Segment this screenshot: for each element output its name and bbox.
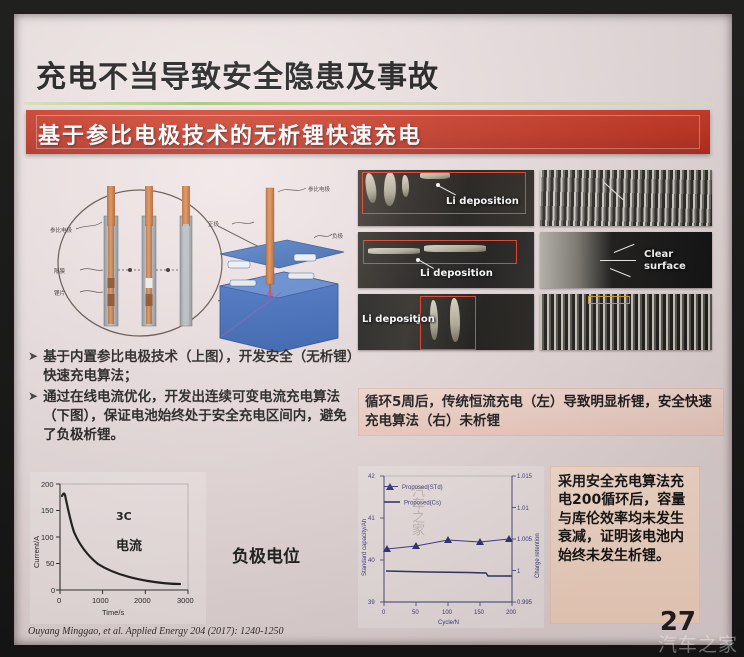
schematic-label-separator: 隔膜	[54, 267, 66, 275]
photo-caption-li-deposition-1: Li deposition	[446, 196, 519, 207]
bullet-item-1: ➤ 基于内置参比电极技术（上图），开发安全（无析锂）快速充电算法；	[28, 348, 354, 385]
svg-text:3000: 3000	[177, 596, 194, 605]
page-title: 充电不当导致安全隐患及事故	[36, 52, 596, 96]
schematic-label-ref-electrode-zoom: 参比电极	[50, 226, 73, 234]
svg-text:Time/s: Time/s	[102, 608, 124, 617]
bullet-text-1: 基于内置参比电极技术（上图），开发安全（无析锂）快速充电算法；	[43, 348, 354, 385]
svg-text:1.005: 1.005	[517, 537, 533, 543]
svg-text:1000: 1000	[92, 596, 109, 605]
chart-annotation-3c: 3C	[116, 510, 132, 523]
svg-text:Current/A: Current/A	[32, 536, 41, 568]
svg-text:42: 42	[368, 474, 375, 480]
svg-text:41: 41	[368, 516, 375, 522]
watermark: 汽车之家	[658, 630, 738, 657]
bullet-list: ➤ 基于内置参比电极技术（上图），开发安全（无析锂）快速充电算法； ➤ 通过在线…	[28, 348, 354, 447]
svg-text:100: 100	[442, 610, 453, 616]
citation-text: Ouyang Minggao, et al. Applied Energy 20…	[28, 626, 284, 637]
svg-text:Charge retention: Charge retention	[535, 533, 541, 578]
svg-text:0: 0	[51, 586, 55, 595]
photo-clear-surface-2: Clear surface	[540, 232, 712, 288]
photo-column-conventional: Li deposition Li deposition Li depositio…	[358, 170, 534, 350]
schematic-label-ref-electrode-cell: 参比电极	[308, 185, 331, 193]
svg-text:100: 100	[41, 533, 54, 542]
photo-li-deposition-3: Li deposition	[358, 294, 534, 350]
svg-text:Standard capacity/Ah: Standard capacity/Ah	[362, 519, 368, 576]
photo-caption-clear-surface-line1: Clear	[644, 250, 673, 261]
schematic-label-lithium: 锂片	[54, 289, 65, 297]
svg-text:1.015: 1.015	[517, 474, 533, 480]
svg-text:50: 50	[412, 610, 419, 616]
title-divider	[24, 102, 714, 105]
svg-text:50: 50	[46, 559, 54, 568]
bullet-text-2: 通过在线电流优化，开发出连续可变电流充电算法（下图），保证电池始终处于安全充电区…	[43, 388, 354, 444]
svg-text:39: 39	[368, 600, 375, 606]
screenshot-root: 充电不当导致安全隐患及事故 基于参比电极技术的无析锂快速充电	[0, 0, 744, 657]
photo-caption-clear-surface-line2: surface	[644, 262, 686, 273]
svg-text:2000: 2000	[134, 596, 151, 605]
photo-caption-li-deposition-2: Li deposition	[420, 268, 493, 279]
chart-capacity-retention: 42 41 40 39 Standard capacity/Ah 1.015 1…	[358, 466, 544, 628]
negative-potential-label: 负极电位	[232, 542, 300, 567]
svg-text:40: 40	[368, 558, 375, 564]
bullet-marker-icon: ➤	[28, 348, 38, 385]
svg-text:200: 200	[41, 480, 54, 489]
photo-li-deposition-1: Li deposition	[358, 170, 534, 226]
reference-electrode-schematic: 参比电极 隔膜 锂片	[32, 166, 352, 356]
bullet-item-2: ➤ 通过在线电流优化，开发出连续可变电流充电算法（下图），保证电池始终处于安全充…	[28, 388, 354, 444]
svg-text:150: 150	[41, 506, 54, 515]
chart-annotation-current: 电流	[116, 538, 142, 554]
svg-text:Cycle/N: Cycle/N	[438, 620, 459, 626]
presentation-slide: 充电不当导致安全隐患及事故 基于参比电极技术的无析锂快速充电	[14, 14, 732, 645]
section-banner-label: 基于参比电极技术的无析锂快速充电	[38, 118, 422, 150]
photo-li-deposition-2: Li deposition	[358, 232, 534, 288]
photo-group-caption: 循环5周后，传统恒流充电（左）导致明显析锂，安全快速充电算法（右）未析锂	[358, 388, 724, 436]
svg-text:0.995: 0.995	[517, 600, 533, 606]
photo-column-fast-charge: Clear surface	[540, 170, 712, 350]
conclusion-box: 采用安全充电算法充电200循环后，容量与库伦效率均未发生衰减，证明该电池内始终未…	[550, 466, 700, 624]
chart-current-vs-time: 200 150 100 50 0 0 1000 2000 3000	[30, 472, 206, 624]
svg-text:200: 200	[506, 610, 517, 616]
bullet-marker-icon: ➤	[28, 388, 38, 444]
svg-text:1.01: 1.01	[517, 506, 529, 512]
photo-caption-li-deposition-3: Li deposition	[362, 314, 435, 325]
schematic-label-positive: 正极	[208, 220, 220, 228]
svg-text:0: 0	[57, 596, 61, 605]
photo-clear-surface-3	[540, 294, 712, 350]
schematic-label-negative: 负极	[332, 232, 344, 240]
watermark-side: 汽车之家	[407, 484, 426, 536]
photo-clear-surface-1	[540, 170, 712, 226]
svg-text:150: 150	[474, 610, 485, 616]
